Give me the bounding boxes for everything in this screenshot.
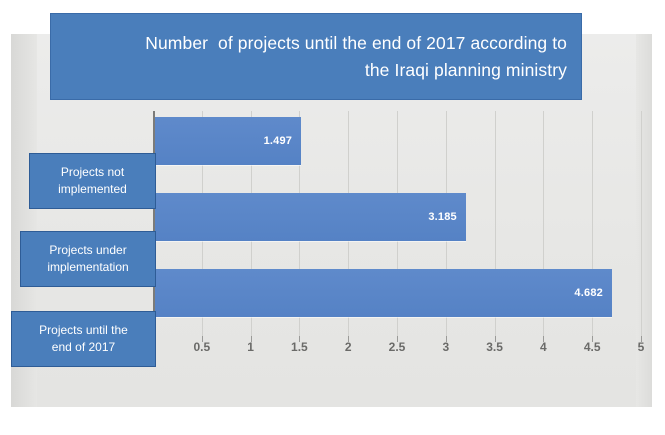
x-axis-tick-label: 1: [247, 340, 254, 354]
x-axis-tick-label: 2.5: [389, 340, 406, 354]
bar[interactable]: 4.682: [155, 269, 612, 317]
plot-area: 1.4973.1854.682: [153, 111, 641, 336]
category-label-box[interactable]: Projects underimplementation: [20, 231, 156, 287]
x-axis-tick-labels: 00.511.522.533.544.55: [153, 340, 641, 362]
x-axis-tick-label: 4: [540, 340, 547, 354]
category-label-line: implementation: [47, 259, 128, 276]
x-axis-tick-label: 3.5: [486, 340, 503, 354]
x-axis-tick-label: 5: [638, 340, 645, 354]
category-label-line: Projects until the: [39, 322, 128, 339]
bar-value-label: 3.185: [428, 211, 466, 223]
category-label-line: end of 2017: [52, 339, 115, 356]
gridline: [641, 111, 642, 336]
x-axis-tick-label: 0.5: [193, 340, 210, 354]
bar[interactable]: 3.185: [155, 193, 466, 241]
x-axis-tick-label: 4.5: [584, 340, 601, 354]
y-axis-line: [153, 111, 155, 336]
category-label-line: Projects under: [49, 242, 126, 259]
category-label-box[interactable]: Projects until theend of 2017: [11, 311, 156, 367]
bar-value-label: 1.497: [264, 135, 302, 147]
category-label-box[interactable]: Projects notimplemented: [29, 153, 156, 209]
chart-title-line-2: the Iraqi planning ministry: [365, 57, 567, 84]
chart-title-box: Number of projects until the end of 2017…: [50, 13, 582, 100]
x-axis-tick-label: 3: [442, 340, 449, 354]
x-axis-tick-label: 1.5: [291, 340, 308, 354]
x-axis-tick-label: 2: [345, 340, 352, 354]
category-label-line: implemented: [58, 181, 127, 198]
bar[interactable]: 1.497: [155, 117, 301, 165]
category-label-line: Projects not: [61, 164, 124, 181]
bar-value-label: 4.682: [574, 287, 612, 299]
chart-title-line-1: Number of projects until the end of 2017…: [145, 30, 567, 57]
